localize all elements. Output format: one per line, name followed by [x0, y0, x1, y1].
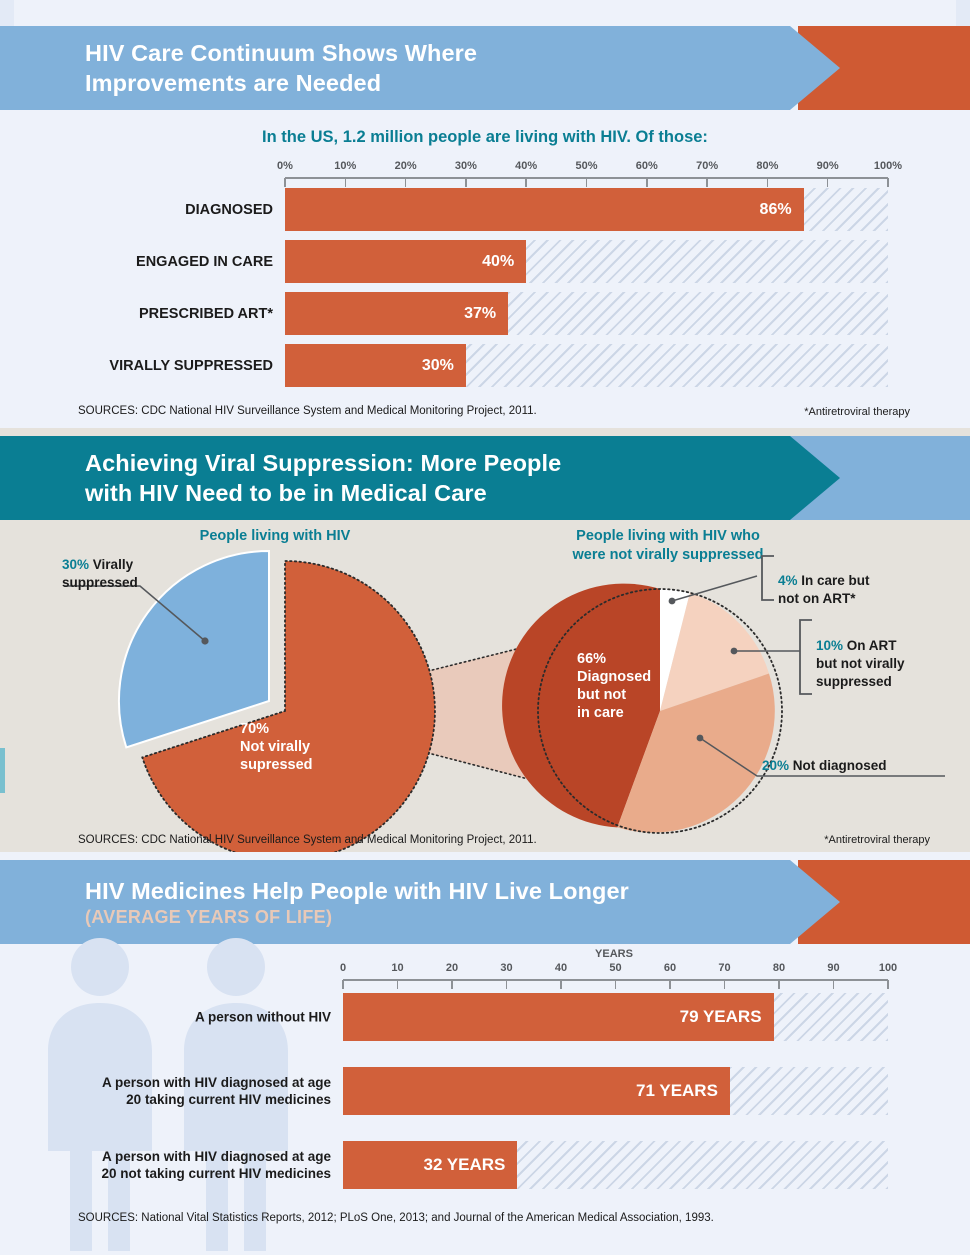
- bar-row: A person with HIV diagnosed at age 20 ta…: [343, 1067, 888, 1115]
- axis-tick-label: 60: [664, 962, 676, 974]
- pie-1-callout-virally-suppressed: 30% Virally suppressed: [62, 556, 222, 592]
- bar-category-label: A person with HIV diagnosed at age 20 ta…: [73, 1074, 343, 1108]
- bar-fill: 79 YEARS: [343, 993, 774, 1041]
- axis-tick-mark: [451, 980, 453, 989]
- axis-tick-label: 10: [391, 962, 403, 974]
- bar-value-label: 40%: [482, 253, 526, 271]
- bar-value-label: 30%: [422, 357, 466, 375]
- axis-tick-label: 50%: [575, 160, 597, 172]
- axis-tick-mark: [345, 178, 347, 187]
- section-1-sources: SOURCES: CDC National HIV Surveillance S…: [78, 405, 537, 417]
- axis-tick-mark: [615, 980, 617, 989]
- axis-tick-mark: [724, 980, 726, 989]
- axis-tick-label: 20: [446, 962, 458, 974]
- axis-tick-label: 0%: [277, 160, 293, 172]
- axis-tick-label: 30: [500, 962, 512, 974]
- bar-category-label: ENGAGED IN CARE: [65, 253, 285, 271]
- axis-tick-label: 50: [609, 962, 621, 974]
- callout-b-line2: but not virally: [816, 656, 905, 671]
- header-1-title-line2: Improvements are Needed: [85, 68, 477, 98]
- hiv-care-continuum-chart: DIAGNOSED86%ENGAGED IN CARE40%PRESCRIBED…: [285, 188, 888, 396]
- bar-category-label: PRESCRIBED ART*: [65, 305, 285, 323]
- callout-b-line1: On ART: [847, 638, 897, 653]
- axis-tick-label: 80%: [756, 160, 778, 172]
- pie-1-callout-text-line2: suppressed: [62, 575, 138, 590]
- section-2-sources: SOURCES: CDC National HIV Surveillance S…: [78, 834, 537, 846]
- chart-1-axis: 0%10%20%30%40%50%60%70%80%90%100%: [285, 160, 888, 190]
- pie-1-callout-text-line1: Virally: [93, 557, 133, 572]
- section-1-caption: In the US, 1.2 million people are living…: [0, 128, 970, 147]
- axis-tick-label: 40%: [515, 160, 537, 172]
- bar-fill: 30%: [285, 344, 466, 387]
- pie-2-callout-in-care-not-on-art: 4% In care but not on ART*: [778, 572, 953, 608]
- section-3-sources: SOURCES: National Vital Statistics Repor…: [78, 1212, 714, 1224]
- bar-category-label: VIRALLY SUPPRESSED: [65, 357, 285, 375]
- section-2-footnote: *Antiretroviral therapy: [824, 834, 930, 846]
- axis-tick-label: 20%: [395, 160, 417, 172]
- bar-row: DIAGNOSED86%: [285, 188, 888, 231]
- axis-tick-label: 70%: [696, 160, 718, 172]
- bar-row: A person with HIV diagnosed at age 20 no…: [343, 1141, 888, 1189]
- pie-2-bracket-10: [800, 620, 812, 694]
- pie-1-leader-dot: [201, 637, 208, 644]
- bar-value-label: 32 YEARS: [423, 1155, 517, 1175]
- pie-2-callout-not-diagnosed: 20% Not diagnosed: [762, 757, 962, 775]
- header-3-title: HIV Medicines Help People with HIV Live …: [85, 860, 629, 944]
- right-edge-strip: [956, 0, 970, 26]
- axis-tick-mark: [887, 980, 889, 989]
- callout-a-line1: In care but: [801, 573, 869, 588]
- callout-a-line2: not on ART*: [778, 591, 855, 606]
- section-1-footnote: *Antiretroviral therapy: [804, 406, 910, 418]
- bar-row: VIRALLY SUPPRESSED30%: [285, 344, 888, 387]
- left-edge-strip: [0, 0, 14, 26]
- axis-tick-mark: [586, 178, 588, 187]
- bar-value-label: 37%: [464, 305, 508, 323]
- axis-tick-mark: [833, 980, 835, 989]
- infographic-page: HIV Care Continuum Shows Where Improveme…: [0, 0, 970, 1255]
- axis-tick-label: 100: [879, 962, 897, 974]
- axis-tick-label: 90%: [817, 160, 839, 172]
- bar-row: PRESCRIBED ART*37%: [285, 292, 888, 335]
- axis-tick-mark: [669, 980, 671, 989]
- bar-fill: 37%: [285, 292, 508, 335]
- axis-tick-label: 70: [718, 962, 730, 974]
- bar-fill: 40%: [285, 240, 526, 283]
- axis-tick-label: 40: [555, 962, 567, 974]
- section-3-header: HIV Medicines Help People with HIV Live …: [0, 860, 970, 944]
- axis-tick-mark: [397, 980, 399, 989]
- chart-1-tick-marks: [285, 178, 888, 187]
- axis-tick-mark: [706, 178, 708, 187]
- bar-fill: 32 YEARS: [343, 1141, 517, 1189]
- callout-b-pct: 10%: [816, 638, 843, 653]
- bar-value-label: 86%: [760, 201, 804, 219]
- callout-c-pct: 20%: [762, 758, 789, 773]
- axis-tick-label: 90: [827, 962, 839, 974]
- axis-tick-mark: [405, 178, 407, 187]
- header-3-title-line1: HIV Medicines Help People with HIV Live …: [85, 876, 629, 906]
- axis-tick-label: 100%: [874, 160, 902, 172]
- axis-tick-mark: [342, 980, 344, 989]
- bar-category-label: A person with HIV diagnosed at age 20 no…: [73, 1148, 343, 1182]
- chart-2-axis-title: YEARS: [595, 948, 633, 960]
- axis-tick-label: 30%: [455, 160, 477, 172]
- axis-tick-mark: [887, 178, 889, 187]
- bar-category-label: A person without HIV: [73, 1009, 343, 1026]
- bar-fill: 86%: [285, 188, 804, 231]
- header-1-title: HIV Care Continuum Shows Where Improveme…: [85, 26, 477, 110]
- axis-tick-mark: [284, 178, 286, 187]
- axis-tick-mark: [767, 178, 769, 187]
- axis-tick-label: 80: [773, 962, 785, 974]
- axis-tick-label: 10%: [334, 160, 356, 172]
- callout-a-pct: 4%: [778, 573, 798, 588]
- axis-tick-mark: [506, 980, 508, 989]
- axis-tick-label: 0: [340, 962, 346, 974]
- axis-tick-mark: [465, 178, 467, 187]
- callout-c-text: Not diagnosed: [793, 758, 887, 773]
- bar-category-label: DIAGNOSED: [65, 201, 285, 219]
- chart-2-axis: 0102030405060708090100: [343, 962, 888, 992]
- pie-2-bracket-4: [762, 556, 774, 600]
- bar-value-label: 79 YEARS: [680, 1007, 774, 1027]
- header-3-subtitle: (AVERAGE YEARS OF LIFE): [85, 906, 629, 929]
- bar-row: A person without HIV79 YEARS: [343, 993, 888, 1041]
- pie-2-leader-line-4: [672, 576, 757, 601]
- life-expectancy-chart: A person without HIV79 YEARSA person wit…: [343, 993, 888, 1215]
- header-1-title-line1: HIV Care Continuum Shows Where: [85, 38, 477, 68]
- axis-tick-mark: [560, 980, 562, 989]
- bar-row: ENGAGED IN CARE40%: [285, 240, 888, 283]
- axis-tick-mark: [525, 178, 527, 187]
- axis-tick-mark: [778, 980, 780, 989]
- chart-2-tick-marks: [343, 980, 888, 989]
- section-1-header: HIV Care Continuum Shows Where Improveme…: [0, 26, 970, 110]
- axis-tick-mark: [646, 178, 648, 187]
- bar-value-label: 71 YEARS: [636, 1081, 730, 1101]
- bar-fill: 71 YEARS: [343, 1067, 730, 1115]
- pie-2-callout-on-art-not-suppressed: 10% On ART but not virally suppressed: [816, 637, 966, 691]
- callout-b-line3: suppressed: [816, 674, 892, 689]
- pie-1-callout-pct: 30%: [62, 557, 89, 572]
- axis-tick-label: 60%: [636, 160, 658, 172]
- axis-tick-mark: [827, 178, 829, 187]
